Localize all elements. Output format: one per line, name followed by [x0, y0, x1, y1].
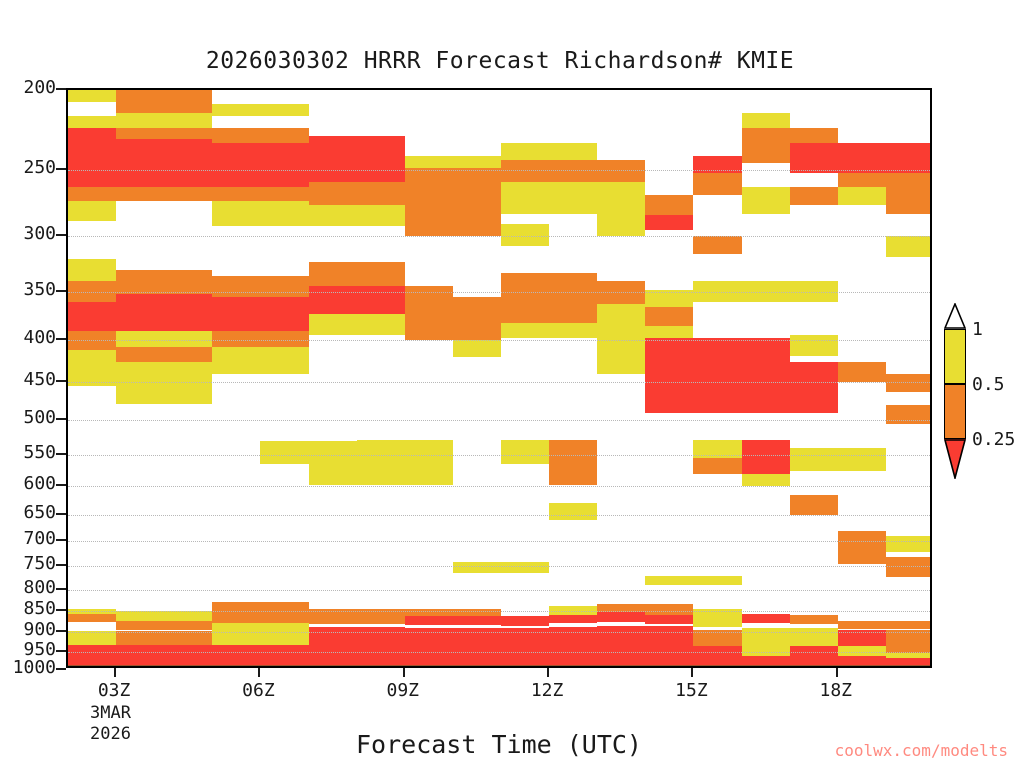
colorbar-legend: 10.50.25 — [944, 303, 966, 479]
colorbar-top-arrow-outline — [944, 303, 966, 329]
y-axis-tick-label: 600 — [23, 475, 56, 493]
y-axis-tick-mark — [56, 234, 66, 236]
x-axis-title: Forecast Time (UTC) — [66, 730, 932, 759]
y-axis-tick-mark — [56, 484, 66, 486]
y-axis-tick-label: 900 — [23, 621, 56, 639]
y-axis-tick-label: 200 — [23, 79, 56, 97]
chart-figure: 2026030302 HRRR Forecast Richardson# KMI… — [0, 0, 1024, 768]
y-axis-tick-mark — [56, 650, 66, 652]
x-axis-tick-label: 15Z — [661, 680, 721, 701]
y-axis-tick-mark — [56, 88, 66, 90]
x-axis-tick-label: 06Z — [228, 680, 288, 701]
y-axis-tick-mark — [56, 609, 66, 611]
y-axis-tick-mark — [56, 668, 66, 670]
terrain-band — [68, 90, 930, 666]
colorbar-band-0.5-to-0.25 — [944, 384, 966, 439]
x-axis-tick-label: 09Z — [373, 680, 433, 701]
y-axis-tick-label: 950 — [23, 641, 56, 659]
x-axis-tick-mark — [836, 668, 838, 677]
terrain-fill — [68, 665, 930, 668]
y-axis-tick-label: 300 — [23, 225, 56, 243]
y-axis-tick-mark — [56, 168, 66, 170]
watermark: coolwx.com/modelts — [835, 741, 1008, 760]
y-axis-tick-mark — [56, 418, 66, 420]
y-axis-tick-label: 1000 — [13, 659, 56, 677]
x-axis-tick-mark — [547, 668, 549, 677]
y-axis-tick-mark — [56, 380, 66, 382]
x-axis-tick-mark — [258, 668, 260, 677]
date-stamp-line: 3MAR — [90, 703, 131, 724]
colorbar-tick-label: 1 — [972, 319, 983, 340]
y-axis-tick-label: 350 — [23, 281, 56, 299]
page-title: 2026030302 HRRR Forecast Richardson# KMI… — [0, 48, 1000, 74]
y-axis-tick-label: 450 — [23, 371, 56, 389]
y-axis-tick-mark — [56, 539, 66, 541]
colorbar-tick-label: 0.5 — [972, 374, 1005, 395]
x-axis-tick-mark — [114, 668, 116, 677]
heatmap-plot-area[interactable] — [66, 88, 932, 668]
colorbar-tick-label: 0.25 — [972, 429, 1015, 450]
y-axis-tick-label: 750 — [23, 555, 56, 573]
x-axis-tick-mark — [403, 668, 405, 677]
y-axis-tick-labels: 2002503003504004505005506006507007508008… — [0, 0, 56, 768]
y-axis-tick-mark — [56, 588, 66, 590]
y-axis-tick-label: 500 — [23, 409, 56, 427]
y-axis-tick-mark — [56, 453, 66, 455]
y-axis-tick-label: 550 — [23, 444, 56, 462]
x-axis-tick-label: 03Z — [84, 680, 144, 701]
y-axis-tick-mark — [56, 513, 66, 515]
x-axis-tick-label: 12Z — [517, 680, 577, 701]
y-axis-tick-label: 650 — [23, 504, 56, 522]
y-axis-tick-label: 400 — [23, 329, 56, 347]
colorbar-band-1-to-0.5 — [944, 329, 966, 384]
y-axis-tick-label: 700 — [23, 530, 56, 548]
x-axis-tick-mark — [691, 668, 693, 677]
y-axis-tick-label: 800 — [23, 579, 56, 597]
y-axis-tick-mark — [56, 338, 66, 340]
y-axis-tick-label: 850 — [23, 600, 56, 618]
x-axis-tick-label: 18Z — [806, 680, 866, 701]
colorbar-bottom-arrow-outline — [944, 439, 966, 479]
y-axis-tick-mark — [56, 290, 66, 292]
y-axis-tick-mark — [56, 564, 66, 566]
y-axis-tick-label: 250 — [23, 159, 56, 177]
y-axis-tick-mark — [56, 630, 66, 632]
